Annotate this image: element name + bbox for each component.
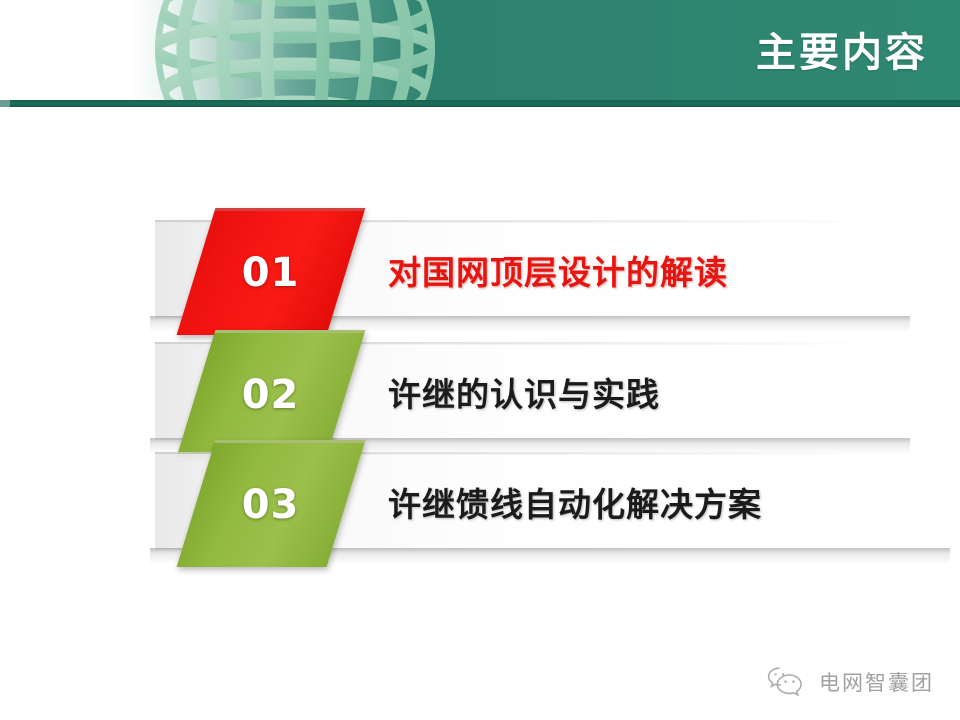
number-tile[interactable]: 01 (177, 208, 366, 335)
watermark-label: 电网智囊团 (819, 667, 934, 697)
slide-header: 主要内容 (0, 0, 960, 100)
globe-wireframe-icon (150, 0, 440, 100)
list-item[interactable]: 03 许继馈线自动化解决方案 (0, 440, 960, 570)
list-item[interactable]: 01 对国网顶层设计的解读 (0, 208, 960, 338)
item-label[interactable]: 许继的认识与实践 (388, 330, 660, 454)
wechat-icon (765, 666, 809, 698)
item-number: 03 (196, 443, 346, 567)
item-number: 02 (196, 333, 346, 457)
contents-list: 01 对国网顶层设计的解读 02 许继的认识与实践 03 许继馈线自动化解决方案 (0, 110, 960, 650)
watermark: 电网智囊团 (765, 666, 934, 698)
number-tile[interactable]: 02 (177, 330, 366, 457)
item-label[interactable]: 对国网顶层设计的解读 (388, 208, 728, 332)
header-divider (0, 100, 960, 107)
item-number: 01 (196, 211, 346, 335)
item-label[interactable]: 许继馈线自动化解决方案 (388, 440, 762, 564)
page-title: 主要内容 (756, 30, 928, 76)
number-tile[interactable]: 03 (177, 440, 366, 567)
header-divider-cap (0, 100, 10, 107)
slide-canvas: 主要内容 01 对国网顶层设计的解读 02 许继的认识与实践 (0, 0, 960, 720)
